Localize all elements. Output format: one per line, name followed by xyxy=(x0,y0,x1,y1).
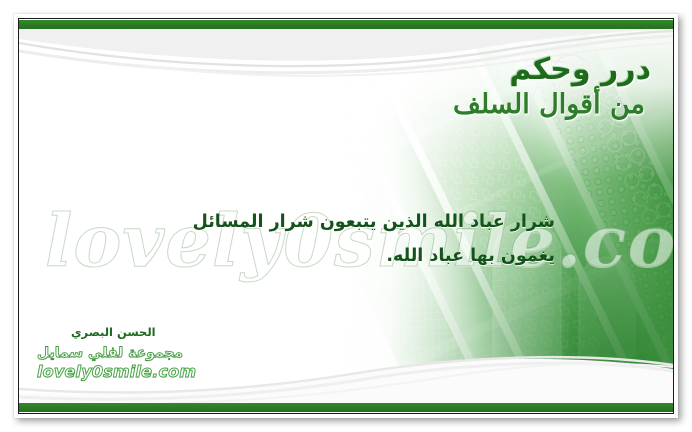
ornament-green-glow xyxy=(373,153,673,403)
bottom-green-bar xyxy=(19,403,673,412)
top-green-bar xyxy=(19,20,673,29)
quote-line-1: شرار عباد الله الذين يتبعون شرار المسائل xyxy=(45,205,555,239)
card-canvas: lovely0smile.com درر وحكم من أقوال السلف… xyxy=(19,29,673,403)
quote-attribution: الحسن البصري xyxy=(71,325,156,339)
poster-canvas: lovely0smile.com درر وحكم من أقوال السلف… xyxy=(0,0,692,432)
quote-card: lovely0smile.com درر وحكم من أقوال السلف… xyxy=(18,18,674,414)
branding-arabic-label: مجموعة لفلي سمايل xyxy=(37,345,196,361)
branding-url[interactable]: lovely0smile.com xyxy=(37,362,196,381)
site-branding[interactable]: مجموعة لفلي سمايل lovely0smile.com xyxy=(37,345,196,381)
title-line-secondary: من أقوال السلف xyxy=(453,91,645,118)
title-line-primary: درر وحكم xyxy=(453,55,651,85)
quote-line-2: يغمون بها عباد الله. xyxy=(45,239,555,273)
quote-text: شرار عباد الله الذين يتبعون شرار المسائل… xyxy=(45,205,555,273)
page-title: درر وحكم من أقوال السلف xyxy=(453,55,651,118)
